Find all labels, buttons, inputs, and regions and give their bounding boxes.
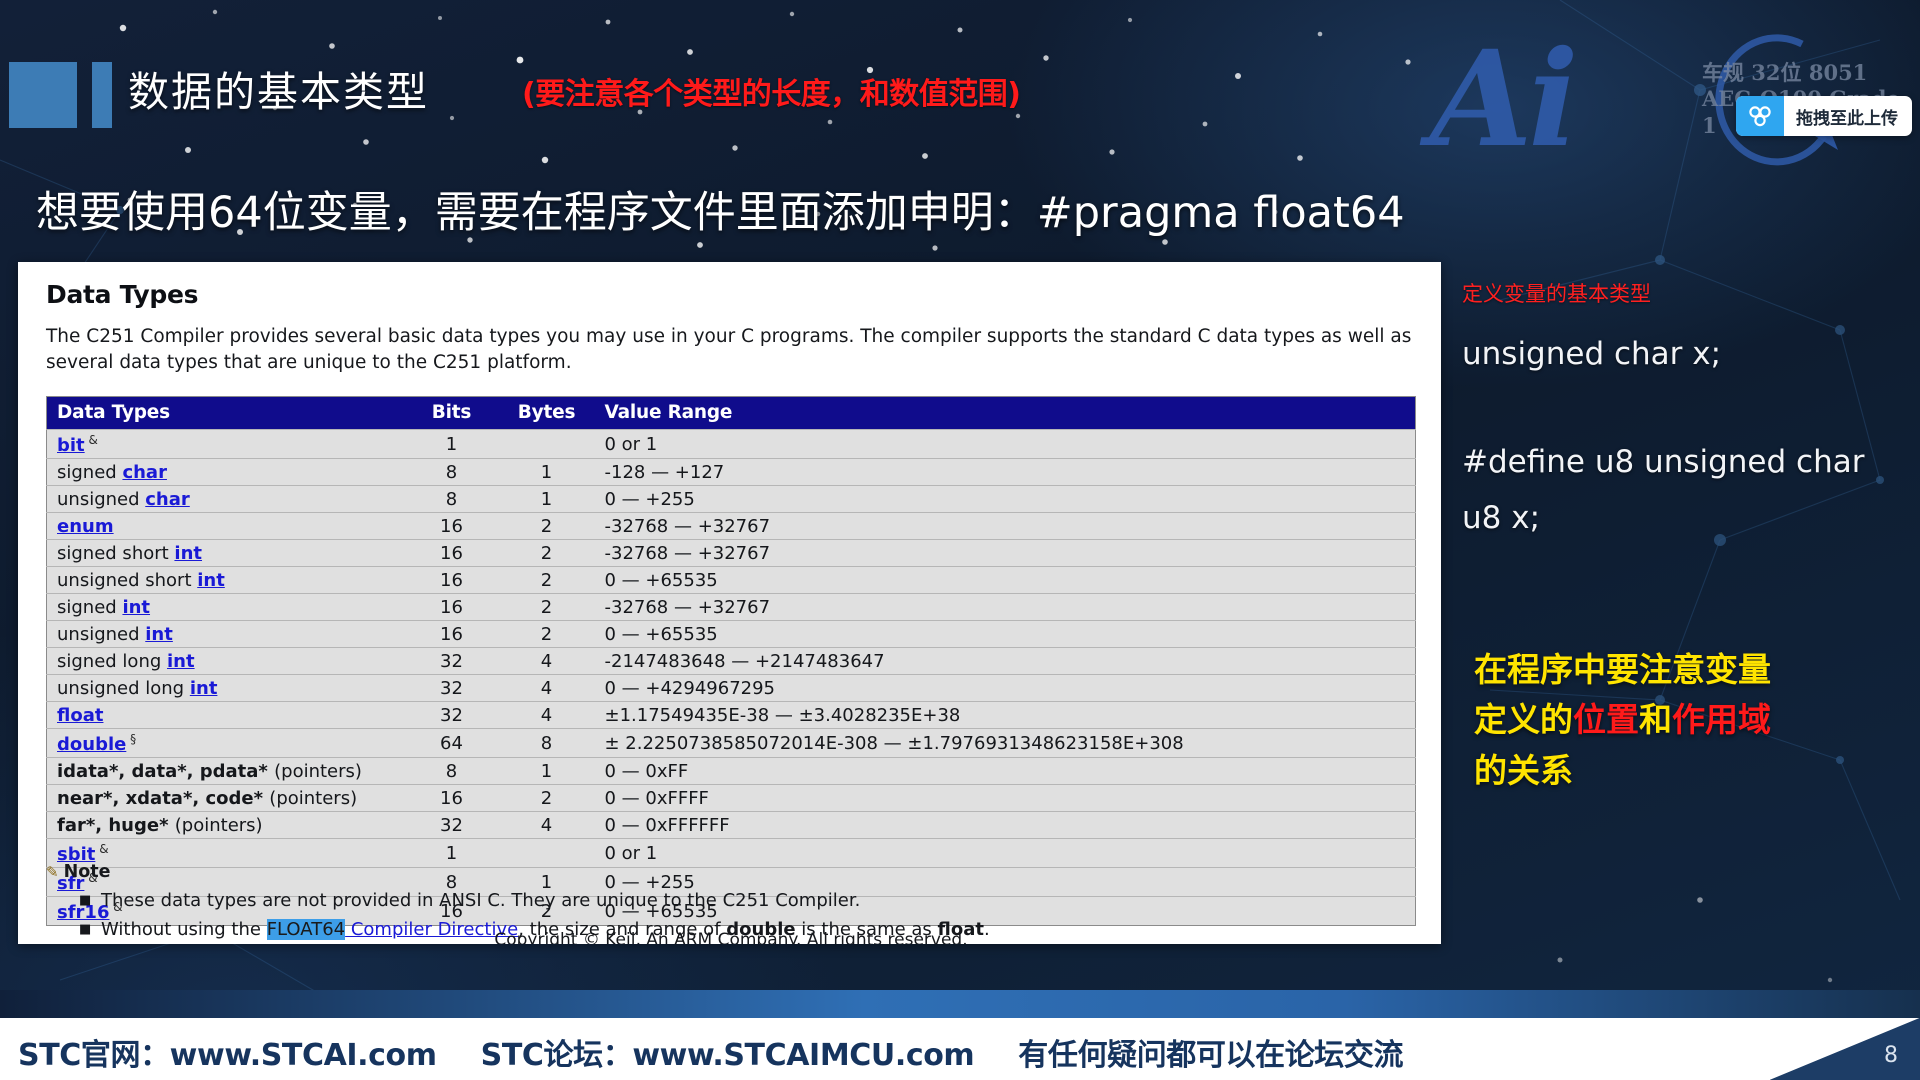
cell-value-range: 0 — +65535 [597,567,1416,594]
cell-data-type: signed long int [47,648,407,675]
table-row: signed char81-128 — +127 [47,459,1416,486]
cell-data-type: unsigned char [47,486,407,513]
cell-bytes: 2 [497,513,597,540]
table-row: unsigned char810 — +255 [47,486,1416,513]
footnote-marker: & [95,842,108,856]
right-annotation-column: 定义变量的基本类型 unsigned char x; #define u8 un… [1462,278,1902,536]
type-link[interactable]: int [167,651,195,672]
table-row: unsigned short int1620 — +65535 [47,567,1416,594]
cell-bytes: 4 [497,812,597,839]
type-link[interactable]: double [57,734,126,755]
table-row: near*, xdata*, code* (pointers)1620 — 0x… [47,785,1416,812]
cell-data-type: double § [47,729,407,758]
type-link[interactable]: int [174,543,202,564]
cell-data-type: idata*, data*, pdata* (pointers) [47,758,407,785]
note-section: ✎Note ■ These data types are not provide… [46,862,1416,940]
cell-bytes: 4 [497,648,597,675]
cell-bits: 64 [407,729,497,758]
cell-value-range: 0 or 1 [597,430,1416,459]
cell-bits: 8 [407,486,497,513]
cell-bits: 16 [407,621,497,648]
footer-forum-label[interactable]: STC论坛：www.STCAIMCU.com [481,1038,975,1073]
cell-bytes: 1 [497,486,597,513]
code-line-u8-x: u8 x; [1462,500,1902,536]
table-row: float324±1.17549435E-38 — ±3.4028235E+38 [47,702,1416,729]
bullet-icon: ■ [79,890,91,912]
cell-bytes: 2 [497,785,597,812]
cell-bytes: 1 [497,459,597,486]
note-heading: ✎Note [46,862,1416,882]
cell-bits: 8 [407,459,497,486]
cell-value-range: 0 — 0xFFFF [597,785,1416,812]
doc-intro-paragraph: The C251 Compiler provides several basic… [46,324,1416,377]
table-row: far*, huge* (pointers)3240 — 0xFFFFFF [47,812,1416,839]
footer-gradient-band [0,990,1920,1018]
table-row: bit &10 or 1 [47,430,1416,459]
page-title: 数据的基本类型 [128,58,429,118]
cell-bytes: 4 [497,675,597,702]
note-pen-icon: ✎ [46,863,59,881]
cell-bytes: 4 [497,702,597,729]
cell-bytes: 2 [497,567,597,594]
cell-bytes: 1 [497,758,597,785]
code-line-define-u8: #define u8 unsigned char [1462,444,1902,480]
emphasis-line-3: 的关系 [1474,746,1894,796]
cell-bits: 32 [407,675,497,702]
cell-data-type: signed char [47,459,407,486]
type-link[interactable]: char [122,462,167,483]
cell-bits: 1 [407,430,497,459]
cell-data-type: signed short int [47,540,407,567]
note-heading-label: Note [64,862,111,882]
cell-data-type: near*, xdata*, code* (pointers) [47,785,407,812]
cell-value-range: 0 — +255 [597,486,1416,513]
table-row: double §648± 2.2250738585072014E-308 — ±… [47,729,1416,758]
cell-bits: 16 [407,594,497,621]
emphasis-line-1: 在程序中要注意变量 [1474,645,1894,695]
type-link[interactable]: int [190,678,218,699]
type-link[interactable]: bit [57,435,85,456]
cell-bytes: 2 [497,621,597,648]
doc-copyright: Copyright © Keil, An ARM Company. All ri… [46,930,1416,944]
cell-data-type: unsigned int [47,621,407,648]
cell-bits: 16 [407,785,497,812]
type-link[interactable]: int [122,597,150,618]
cell-bits: 32 [407,702,497,729]
col-header-bits: Bits [407,397,497,430]
footer-site-label[interactable]: STC官网：www.STCAI.com [18,1038,437,1073]
note-item-1: ■ These data types are not provided in A… [46,890,1416,911]
cell-value-range: -32768 — +32767 [597,540,1416,567]
footnote-marker: & [85,433,98,447]
title-accent-block-large [9,62,77,128]
cell-data-type: bit & [47,430,407,459]
emphasis-red-scope: 作用域 [1672,700,1771,739]
cell-value-range: -32768 — +32767 [597,594,1416,621]
slide-title-row: 数据的基本类型 (要注意各个类型的长度，和数值范围) [0,62,1920,138]
type-link[interactable]: enum [57,516,114,537]
cell-bytes: 2 [497,540,597,567]
cell-data-type: float [47,702,407,729]
note-item-1-text: These data types are not provided in ANS… [101,890,860,911]
cell-bits: 32 [407,648,497,675]
cell-bits: 16 [407,540,497,567]
page-number: 8 [1884,1043,1898,1068]
table-row: signed long int324-2147483648 — +2147483… [47,648,1416,675]
title-accent-block-small [92,62,112,128]
cell-bytes: 8 [497,729,597,758]
emphasis-red-position: 位置 [1573,700,1639,739]
cell-value-range: 0 — +65535 [597,621,1416,648]
slide-subtitle: 想要使用64位变量，需要在程序文件里面添加申明：#pragma float64 [36,178,1405,240]
cell-bytes: 2 [497,594,597,621]
cell-value-range: 0 — 0xFFFFFF [597,812,1416,839]
type-link[interactable]: int [197,570,225,591]
cell-data-type: enum [47,513,407,540]
cell-data-type: far*, huge* (pointers) [47,812,407,839]
cell-value-range: -128 — +127 [597,459,1416,486]
cell-value-range: ±1.17549435E-38 — ±3.4028235E+38 [597,702,1416,729]
table-row: signed int162-32768 — +32767 [47,594,1416,621]
emphasis-line-2: 定义的位置和作用域 [1474,695,1894,745]
cell-bits: 16 [407,513,497,540]
cell-bits: 8 [407,758,497,785]
cell-value-range: -2147483648 — +2147483647 [597,648,1416,675]
doc-heading: Data Types [46,280,198,309]
cell-value-range: 0 — 0xFF [597,758,1416,785]
cell-value-range: -32768 — +32767 [597,513,1416,540]
col-header-data-types: Data Types [47,397,407,430]
table-body: bit &10 or 1signed char81-128 — +127unsi… [47,430,1416,926]
keil-doc-screenshot-panel: Data Types The C251 Compiler provides se… [18,262,1441,944]
cell-bytes [497,430,597,459]
cell-value-range: 0 — +4294967295 [597,675,1416,702]
page-title-note: (要注意各个类型的长度，和数值范围) [522,69,1020,113]
footnote-marker: § [126,732,136,746]
col-header-value-range: Value Range [597,397,1416,430]
type-link[interactable]: float [57,705,103,726]
col-header-bytes: Bytes [497,397,597,430]
cell-value-range: ± 2.2250738585072014E-308 — ±1.797693134… [597,729,1416,758]
cell-data-type: unsigned short int [47,567,407,594]
table-row: idata*, data*, pdata* (pointers)810 — 0x… [47,758,1416,785]
table-header-row: Data Types Bits Bytes Value Range [47,397,1416,430]
cell-bits: 16 [407,567,497,594]
type-link[interactable]: char [145,489,190,510]
right-red-note: 定义变量的基本类型 [1462,278,1902,308]
type-link[interactable]: int [145,624,173,645]
table-row: unsigned long int3240 — +4294967295 [47,675,1416,702]
footer-tip-label: 有任何疑问都可以在论坛交流 [1018,1038,1403,1073]
right-emphasis-block: 在程序中要注意变量 定义的位置和作用域 的关系 [1474,645,1894,796]
footer-links-text: STC官网：www.STCAI.comSTC论坛：www.STCAIMCU.co… [18,1030,1403,1074]
data-types-table: Data Types Bits Bytes Value Range bit &1… [46,396,1416,926]
footer-bar: STC官网：www.STCAI.comSTC论坛：www.STCAIMCU.co… [0,1018,1920,1080]
table-row: signed short int162-32768 — +32767 [47,540,1416,567]
cell-data-type: signed int [47,594,407,621]
table-row: enum162-32768 — +32767 [47,513,1416,540]
cell-data-type: unsigned long int [47,675,407,702]
cell-bits: 32 [407,812,497,839]
code-line-unsigned-char: unsigned char x; [1462,336,1902,372]
table-row: unsigned int1620 — +65535 [47,621,1416,648]
